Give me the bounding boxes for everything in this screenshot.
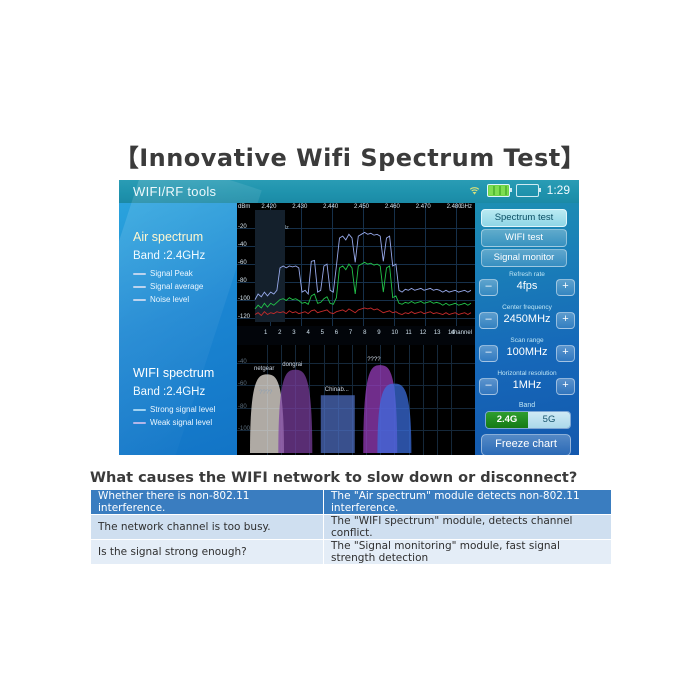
- channel-axis: 1234567891011121314 channel: [237, 326, 475, 345]
- channel-tick-label: 8: [363, 330, 366, 336]
- air-spectrum-traces: [237, 203, 475, 326]
- stepper-label: Center frequency: [479, 304, 575, 311]
- network-bubble: [377, 384, 411, 453]
- legend-item-signal-average: Signal average: [133, 282, 205, 291]
- wifi-icon: [468, 185, 481, 196]
- channel-tick-label: 9: [377, 330, 380, 336]
- solution-cell: The "WIFI spectrum" module, detects chan…: [324, 515, 612, 540]
- channel-tick-label: 7: [349, 330, 352, 336]
- left-info-panel: Air spectrum Band :2.4GHz Signal Peak Si…: [119, 203, 237, 455]
- legend-item-noise-level: Noise level: [133, 295, 205, 304]
- channel-tick-label: 11: [406, 330, 412, 336]
- air-spectrum-chart[interactable]: dBm 2.4202.4302.4402.4502.4602.4702.480 …: [237, 203, 475, 326]
- mode-button-wifi-test[interactable]: WIFI test: [481, 229, 567, 247]
- stepper-center-frequency: Center frequency 2450MHz – +: [479, 304, 575, 334]
- decrement-button[interactable]: –: [479, 378, 498, 395]
- control-panel: Spectrum test WIFI test Signal monitor R…: [475, 203, 579, 455]
- increment-button[interactable]: +: [556, 378, 575, 395]
- increment-button[interactable]: +: [556, 312, 575, 329]
- band-selector: Band 2.4G 5G: [475, 402, 579, 430]
- wifi-network-bubbles: [237, 345, 475, 455]
- increment-button[interactable]: +: [556, 279, 575, 296]
- faq-question: What causes the WIFI network to slow dow…: [90, 470, 577, 486]
- air-spectrum-heading: Air spectrum: [133, 230, 205, 244]
- charts-area: dBm 2.4202.4302.4402.4502.4602.4702.480 …: [237, 203, 475, 455]
- legend-label: Weak signal level: [150, 418, 212, 427]
- network-ssid-label: Chinab...: [325, 387, 349, 393]
- stepper-scan-range: Scan range 100MHz – +: [479, 337, 575, 367]
- axis-label-channel: channel: [451, 330, 472, 336]
- increment-button[interactable]: +: [556, 345, 575, 362]
- band-option-2-4g[interactable]: 2.4G: [486, 412, 528, 428]
- table-row: The network channel is too busy. The "WI…: [91, 515, 612, 540]
- page-root: 【Innovative Wifi Spectrum Test】 WIFI/RF …: [0, 0, 700, 700]
- air-spectrum-band: Band :2.4GHz: [133, 250, 205, 262]
- decrement-button[interactable]: –: [479, 279, 498, 296]
- legend-item-signal-peak: Signal Peak: [133, 269, 205, 278]
- legend-swatch-icon: [133, 273, 146, 275]
- mode-button-spectrum-test[interactable]: Spectrum test: [481, 209, 567, 227]
- decrement-button[interactable]: –: [479, 312, 498, 329]
- channel-tick-label: 3: [292, 330, 295, 336]
- legend-swatch-icon: [133, 286, 146, 288]
- cause-cell: Whether there is non-802.11 interference…: [91, 490, 324, 515]
- legend-swatch-icon: [133, 299, 146, 301]
- clock: 1:29: [547, 183, 570, 197]
- table-row: Whether there is non-802.11 interference…: [91, 490, 612, 515]
- wifi-spectrum-band: Band :2.4GHz: [133, 386, 215, 398]
- wifi-spectrum-block: WIFI spectrum Band :2.4GHz Strong signal…: [133, 366, 215, 431]
- status-bar-icons: 1:29: [468, 183, 570, 197]
- channel-tick-label: 4: [306, 330, 309, 336]
- network-ssid-label: netgear: [254, 366, 274, 372]
- cause-cell: Is the signal strong enough?: [91, 540, 324, 565]
- freeze-chart-button[interactable]: Freeze chart: [481, 434, 571, 455]
- channel-tick-label: 5: [321, 330, 324, 336]
- air-spectrum-block: Air spectrum Band :2.4GHz Signal Peak Si…: [133, 230, 205, 308]
- network-bubble: [278, 370, 312, 453]
- channel-tick-label: 10: [391, 330, 398, 336]
- battery-charging-icon: [487, 184, 510, 197]
- solution-cell: The "Air spectrum" module detects non-80…: [324, 490, 612, 515]
- legend-item-strong-signal: Strong signal level: [133, 405, 215, 414]
- network-ssid-label-secondary: ????: [259, 390, 272, 396]
- mode-button-signal-monitor[interactable]: Signal monitor: [481, 249, 567, 267]
- wifi-spectrum-chart[interactable]: -40-60-80-100 netgear????dongraiChinab..…: [237, 345, 475, 455]
- network-bubble: [321, 395, 355, 453]
- table-row: Is the signal strong enough? The "Signal…: [91, 540, 612, 565]
- stepper-horizontal-resolution: Horizontal resolution 1MHz – +: [479, 370, 575, 400]
- device-screen: WIFI/RF tools 1:29 Air spectrum Band: [119, 180, 579, 455]
- channel-tick-label: 12: [420, 330, 427, 336]
- wifi-spectrum-heading: WIFI spectrum: [133, 366, 215, 380]
- band-option-5g[interactable]: 5G: [528, 412, 570, 428]
- page-title: 【Innovative Wifi Spectrum Test】: [0, 138, 700, 173]
- channel-tick-label: 2: [278, 330, 281, 336]
- legend-label: Signal average: [150, 282, 203, 291]
- network-ssid-label: dongrai: [282, 362, 302, 368]
- legend-label: Noise level: [150, 295, 189, 304]
- stepper-label: Refresh rate: [479, 271, 575, 278]
- stepper-label: Horizontal resolution: [479, 370, 575, 377]
- cause-cell: The network channel is too busy.: [91, 515, 324, 540]
- channel-tick-label: 1: [264, 330, 267, 336]
- channel-tick-label: 13: [434, 330, 441, 336]
- stepper-label: Scan range: [479, 337, 575, 344]
- battery-empty-icon: [516, 184, 539, 197]
- trace-signal-average: [255, 262, 471, 309]
- network-ssid-label: ????: [367, 357, 380, 363]
- solution-cell: The "Signal monitoring" module, fast sig…: [324, 540, 612, 565]
- legend-label: Strong signal level: [150, 405, 215, 414]
- trace-signal-peak: [255, 232, 471, 299]
- trace-noise-level: [255, 308, 471, 316]
- legend-label: Signal Peak: [150, 269, 193, 278]
- legend-item-weak-signal: Weak signal level: [133, 418, 215, 427]
- legend-swatch-icon: [133, 409, 146, 411]
- faq-table: Whether there is non-802.11 interference…: [90, 489, 612, 565]
- stepper-refresh-rate: Refresh rate 4fps – +: [479, 271, 575, 301]
- decrement-button[interactable]: –: [479, 345, 498, 362]
- band-label: Band: [475, 402, 579, 409]
- channel-tick-label: 6: [335, 330, 338, 336]
- legend-swatch-icon: [133, 422, 146, 424]
